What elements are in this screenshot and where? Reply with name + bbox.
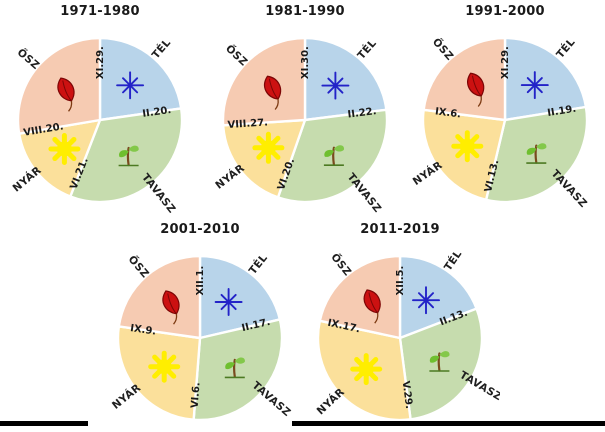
left-black-bar [0, 421, 88, 426]
pie-svg: TÉLTAVASZNYÁRŐSZXI.29.II.19.VI.13.IX.6. [405, 28, 605, 213]
boundary-date-winter_start: XI.29. [500, 46, 511, 79]
chart-title: 1991-2000 [405, 4, 605, 19]
pie-wrap: TÉLTAVASZNYÁRŐSZXI.29.II.19.VI.13.IX.6. [405, 28, 605, 213]
seasonal-pie-chart: 2001-2010 TÉLTAVASZNYÁRŐSZXII.1.II.17.VI… [100, 222, 300, 432]
season-label-winter: TÉL [441, 247, 464, 273]
boundary-date-winter_start: XI.29. [95, 46, 106, 79]
seasonal-pie-chart: 2011-2019 TÉLTAVASZNYÁRŐSZXII.5.II.13.V.… [300, 222, 500, 432]
season-label-spring: TAVASZ [549, 168, 590, 211]
sun-icon [454, 133, 481, 160]
pie-svg: TÉLTAVASZNYÁRŐSZXII.5.II.13.V.29.IX.17. [300, 246, 500, 431]
season-label-summer: NYÁR [10, 163, 44, 194]
season-label-summer: NYÁR [109, 381, 143, 412]
pie-svg: TÉLTAVASZNYÁRŐSZXI.29.II.20.VI.21.VIII.2… [0, 28, 200, 213]
season-label-summer: NYÁR [213, 161, 247, 191]
boundary-date-winter_start: XII.1. [195, 266, 206, 296]
seasonal-pie-chart: 1971-1980 TÉLTAVASZNYÁRŐSZXI.29.II.20.VI… [0, 4, 200, 214]
pie-svg: TÉLTAVASZNYÁRŐSZXII.1.II.17.VI.6.IX.9. [100, 246, 300, 431]
pie-wrap: TÉLTAVASZNYÁRŐSZXII.5.II.13.V.29.IX.17. [300, 246, 500, 431]
sun-icon [353, 356, 380, 383]
chart-title: 2001-2010 [100, 222, 300, 237]
pie-wrap: TÉLTAVASZNYÁRŐSZXII.1.II.17.VI.6.IX.9. [100, 246, 300, 431]
seasonal-pie-chart: 1981-1990 TÉLTAVASZNYÁRŐSZXI.30.II.22.VI… [205, 4, 405, 214]
sun-icon [255, 134, 282, 161]
season-label-summer: NYÁR [314, 385, 347, 417]
pie-wrap: TÉLTAVASZNYÁRŐSZXI.29.II.20.VI.21.VIII.2… [0, 28, 200, 213]
sun-icon [51, 136, 78, 163]
seasonal-pie-chart: 1991-2000 TÉLTAVASZNYÁRŐSZXI.29.II.19.VI… [405, 4, 605, 214]
chart-title: 2011-2019 [300, 222, 500, 237]
boundary-date-winter_start: XI.30. [300, 46, 311, 79]
chart-title: 1971-1980 [0, 4, 200, 19]
season-label-summer: NYÁR [410, 158, 445, 188]
boundary-date-summer_start: VI.6. [190, 382, 203, 409]
pie-wrap: TÉLTAVASZNYÁRŐSZXI.30.II.22.VI.20.VIII.2… [205, 28, 405, 213]
right-black-bar [292, 421, 605, 426]
chart-title: 1981-1990 [205, 4, 405, 19]
pie-svg: TÉLTAVASZNYÁRŐSZXI.30.II.22.VI.20.VIII.2… [205, 28, 405, 213]
sun-icon [151, 353, 178, 380]
boundary-date-winter_start: XII.5. [395, 266, 406, 296]
